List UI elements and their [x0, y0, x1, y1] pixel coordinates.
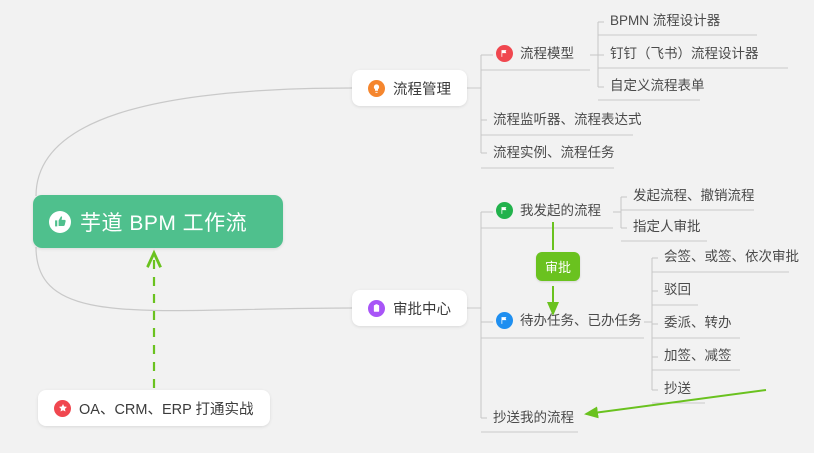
node-todo-done-tasks[interactable]: 待办任务、已办任务 — [494, 311, 648, 334]
node-cc-to-me-process-label: 抄送我的流程 — [493, 410, 574, 425]
node-oa-crm-erp[interactable]: OA、CRM、ERP 打通实战 — [38, 390, 270, 426]
node-add-remove-sign[interactable]: 加签、减签 — [658, 346, 738, 369]
branch-approval-center[interactable]: 审批中心 — [352, 290, 467, 326]
flag-icon — [496, 45, 513, 62]
node-todo-done-tasks-label: 待办任务、已办任务 — [520, 311, 642, 330]
node-start-cancel-process[interactable]: 发起流程、撤销流程 — [627, 186, 761, 209]
node-process-instance-task[interactable]: 流程实例、流程任务 — [487, 143, 621, 166]
node-start-cancel-process-label: 发起流程、撤销流程 — [633, 188, 755, 203]
node-process-instance-task-label: 流程实例、流程任务 — [493, 145, 615, 160]
node-delegate-transfer[interactable]: 委派、转办 — [658, 313, 738, 336]
flag-icon — [496, 312, 513, 329]
node-process-model[interactable]: 流程模型 — [494, 44, 580, 67]
node-reject-label: 驳回 — [664, 282, 691, 297]
node-custom-process-form[interactable]: 自定义流程表单 — [604, 76, 711, 99]
node-dingtalk-feishu-designer[interactable]: 钉钉（飞书）流程设计器 — [604, 44, 765, 67]
node-my-initiated-process[interactable]: 我发起的流程 — [494, 201, 607, 224]
node-assignee-approval[interactable]: 指定人审批 — [627, 217, 707, 240]
node-countersign-orsign-sequential[interactable]: 会签、或签、依次审批 — [658, 247, 805, 270]
approval-badge[interactable]: 审批 — [536, 252, 580, 281]
node-oa-crm-erp-label: OA、CRM、ERP 打通实战 — [79, 398, 254, 419]
node-assignee-approval-label: 指定人审批 — [633, 219, 701, 234]
root-label: 芋道 BPM 工作流 — [80, 207, 247, 237]
node-dingtalk-feishu-designer-label: 钉钉（飞书）流程设计器 — [610, 46, 759, 61]
lightbulb-icon — [368, 80, 385, 97]
node-cc-to-me-process[interactable]: 抄送我的流程 — [487, 408, 580, 431]
node-process-listener-expression-label: 流程监听器、流程表达式 — [493, 112, 642, 127]
node-reject[interactable]: 驳回 — [658, 280, 697, 303]
node-bpmn-designer-label: BPMN 流程设计器 — [610, 13, 720, 28]
branch-approval-center-label: 审批中心 — [393, 298, 451, 319]
node-countersign-orsign-sequential-label: 会签、或签、依次审批 — [664, 249, 799, 264]
thumbs-up-icon — [49, 211, 71, 233]
flag-icon — [496, 202, 513, 219]
node-add-remove-sign-label: 加签、减签 — [664, 348, 732, 363]
node-process-model-label: 流程模型 — [520, 44, 574, 63]
branch-process-management[interactable]: 流程管理 — [352, 70, 467, 106]
root-node[interactable]: 芋道 BPM 工作流 — [33, 195, 283, 248]
mindmap-canvas: 芋道 BPM 工作流 流程管理 流程模型 BPMN 流程设计器 钉钉（飞书）流程… — [0, 0, 814, 453]
node-custom-process-form-label: 自定义流程表单 — [610, 78, 705, 93]
node-cc[interactable]: 抄送 — [658, 379, 697, 402]
node-delegate-transfer-label: 委派、转办 — [664, 315, 732, 330]
node-my-initiated-process-label: 我发起的流程 — [520, 201, 601, 220]
node-cc-label: 抄送 — [664, 381, 691, 396]
node-bpmn-designer[interactable]: BPMN 流程设计器 — [604, 11, 726, 34]
branch-process-management-label: 流程管理 — [393, 78, 451, 99]
node-process-listener-expression[interactable]: 流程监听器、流程表达式 — [487, 110, 648, 133]
approval-badge-label: 审批 — [545, 260, 571, 275]
star-icon — [54, 400, 71, 417]
clipboard-icon — [368, 300, 385, 317]
